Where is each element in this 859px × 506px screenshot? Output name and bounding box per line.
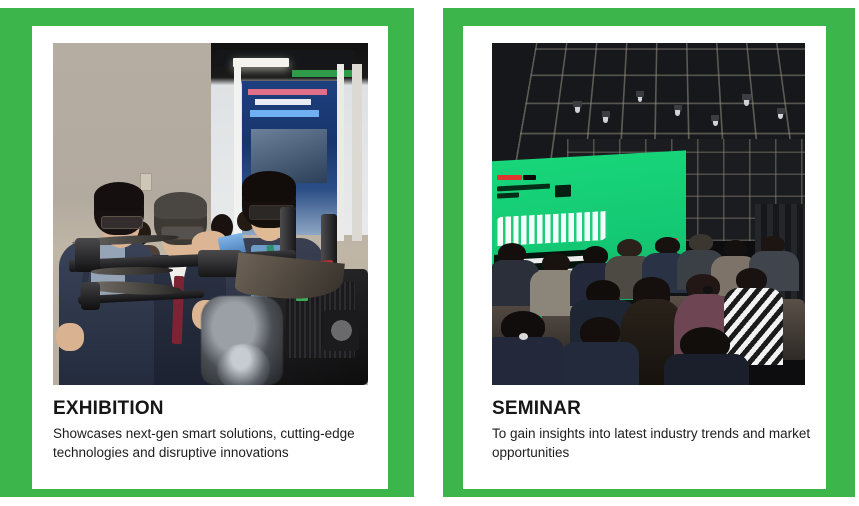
- card-seminar[interactable]: SEMINAR To gain insights into latest ind…: [443, 8, 855, 497]
- card-exhibition-description: Showcases next-gen smart solutions, cutt…: [53, 425, 398, 462]
- card-exhibition-image: [53, 43, 368, 385]
- card-seminar-panel: SEMINAR To gain insights into latest ind…: [463, 26, 826, 489]
- page-canvas: EXHIBITION Showcases next-gen smart solu…: [0, 0, 859, 506]
- card-seminar-image: [492, 43, 805, 385]
- card-exhibition-text: EXHIBITION Showcases next-gen smart solu…: [53, 398, 398, 462]
- card-exhibition[interactable]: EXHIBITION Showcases next-gen smart solu…: [0, 8, 414, 497]
- card-exhibition-panel: EXHIBITION Showcases next-gen smart solu…: [32, 26, 388, 489]
- card-seminar-text: SEMINAR To gain insights into latest ind…: [492, 398, 836, 462]
- card-seminar-title: SEMINAR: [492, 398, 836, 420]
- card-seminar-description: To gain insights into latest industry tr…: [492, 425, 828, 462]
- card-exhibition-title: EXHIBITION: [53, 398, 398, 420]
